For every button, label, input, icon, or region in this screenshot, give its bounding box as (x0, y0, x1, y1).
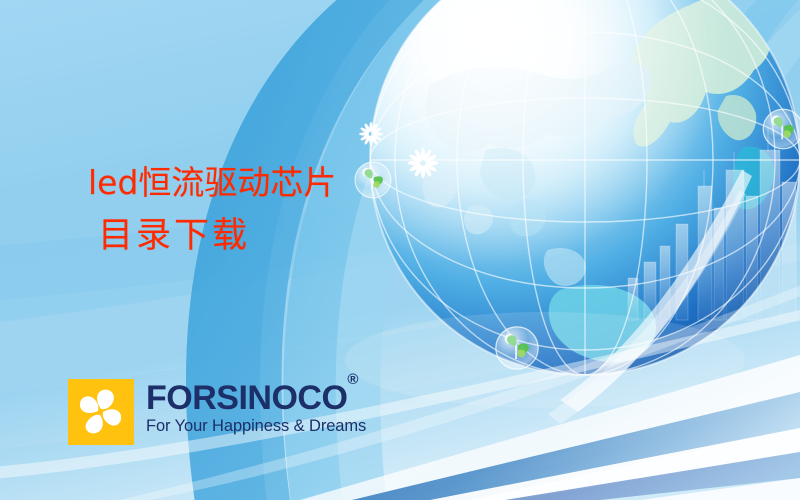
company-logo: FORSINOCO® For Your Happiness & Dreams (68, 379, 366, 445)
promo-banner: led恒流驱动芯片 目录下载 FORSINOCO® For Your Happi… (0, 0, 800, 500)
pinwheel-flower-icon (68, 379, 134, 445)
logo-wordmark-tail: O (321, 379, 347, 417)
logo-wordmark: FORSINOCO® (146, 381, 366, 415)
logo-tagline: For Your Happiness & Dreams (146, 418, 366, 435)
headline-block: led恒流驱动芯片 目录下载 (0, 162, 420, 259)
registered-trademark-icon: ® (347, 371, 358, 388)
logo-wordmark-main: FORSINOC (146, 379, 321, 417)
logo-text-block: FORSINOCO® For Your Happiness & Dreams (146, 379, 366, 435)
headline-line-2: 目录下载 (0, 214, 420, 259)
headline-line-1: led恒流驱动芯片 (0, 162, 420, 204)
starburst-icon (359, 122, 383, 146)
bubble-sprout-icon (763, 109, 800, 149)
bubble-sprout-icon (496, 327, 538, 369)
